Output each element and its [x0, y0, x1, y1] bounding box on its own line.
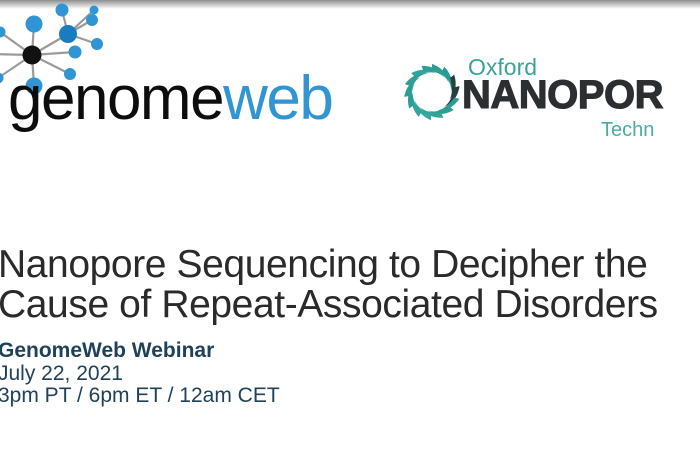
nanopore-wordmark: NANOPOR — [462, 75, 663, 115]
genomeweb-wordmark-accent: web — [223, 64, 332, 133]
webinar-date: July 22, 2021 — [0, 363, 700, 386]
oxford-nanopore-logo: Oxford NANOPOR Techn — [398, 44, 700, 150]
page-title-line-1: Nanopore Sequencing to Decipher the — [0, 245, 700, 285]
genomeweb-wordmark: genomeweb — [8, 68, 332, 130]
page-title: Nanopore Sequencing to Decipher the Caus… — [0, 245, 700, 325]
nanopore-technologies-text: Techn — [601, 120, 654, 140]
webinar-time: 3pm PT / 6pm ET / 12am CET — [0, 385, 700, 408]
nanopore-swirl-mark — [400, 60, 464, 124]
genomeweb-logo: genomeweb — [0, 0, 360, 150]
webinar-title-slide: genomeweb — [0, 0, 700, 470]
genomeweb-wordmark-dark: genome — [8, 64, 223, 133]
webinar-series-label: GenomeWeb Webinar — [0, 340, 700, 363]
page-title-line-2: Cause of Repeat-Associated Disorders — [0, 285, 700, 325]
webinar-details: GenomeWeb Webinar July 22, 2021 3pm PT /… — [0, 340, 700, 408]
